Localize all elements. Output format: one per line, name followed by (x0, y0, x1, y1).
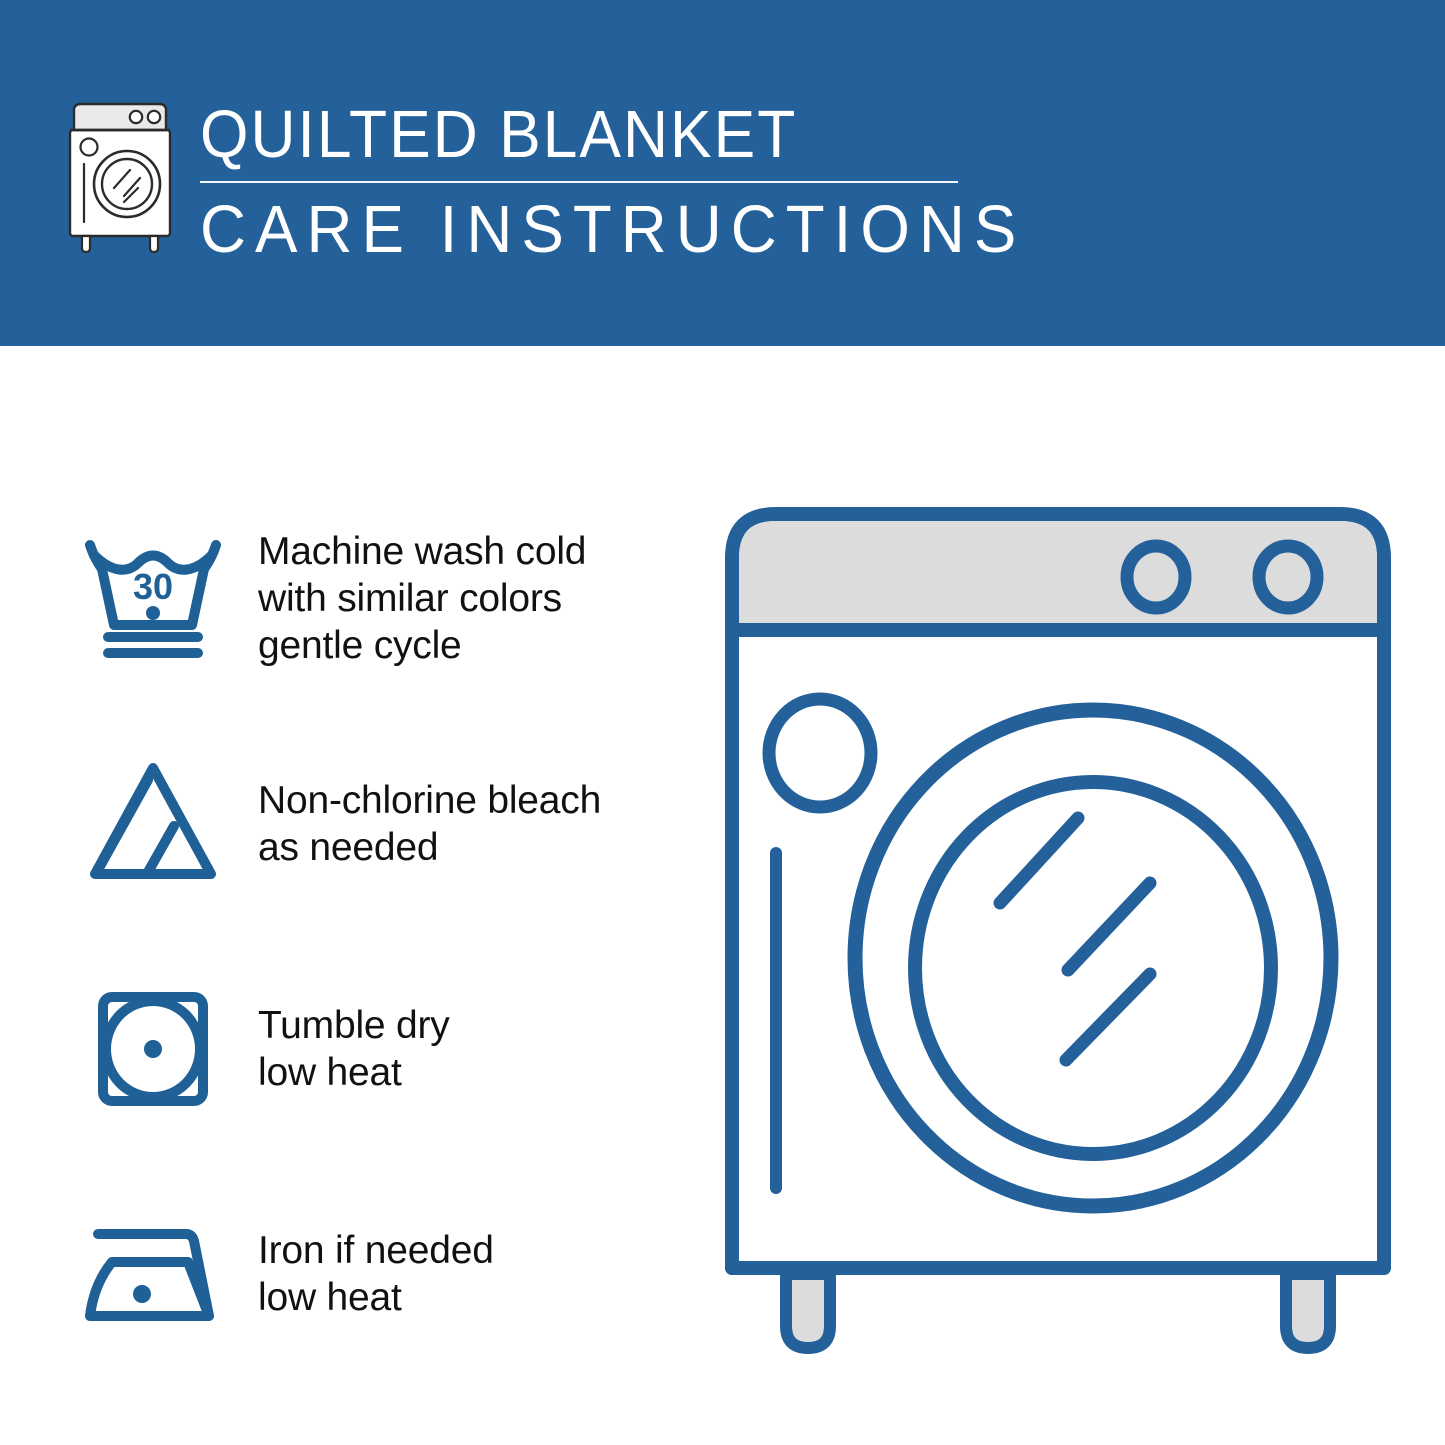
washing-machine-icon (62, 96, 182, 256)
page-title-secondary: CARE INSTRUCTIONS (200, 193, 1025, 267)
title-divider (200, 181, 958, 183)
tumble-dry-low-icon (70, 979, 235, 1119)
machine-leg (786, 1274, 830, 1348)
care-instruction-row: Iron if needed low heat (70, 1161, 690, 1386)
care-instruction-row: Tumble dry low heat (70, 936, 690, 1161)
care-instructions-page: QUILTED BLANKET CARE INSTRUCTIONS (0, 0, 1445, 1445)
care-instruction-text: Tumble dry low heat (258, 1002, 450, 1096)
care-instruction-list: 30 Machine wash cold with similar colors… (70, 486, 690, 1386)
care-instruction-text: Machine wash cold with similar colors ge… (258, 528, 586, 669)
header-content: QUILTED BLANKET CARE INSTRUCTIONS (62, 96, 1069, 267)
care-instruction-text: Non-chlorine bleach as needed (258, 777, 601, 871)
header-title-block: QUILTED BLANKET CARE INSTRUCTIONS (200, 96, 1069, 267)
care-instruction-text: Iron if needed low heat (258, 1227, 494, 1321)
front-load-washing-machine-illustration (718, 478, 1398, 1368)
machine-leg (1286, 1274, 1330, 1348)
header-band: QUILTED BLANKET CARE INSTRUCTIONS (0, 0, 1445, 346)
wash-tub-30-gentle-icon: 30 (70, 529, 235, 669)
non-chlorine-bleach-triangle-icon (70, 754, 235, 894)
care-instruction-row: 30 Machine wash cold with similar colors… (70, 486, 690, 711)
care-instruction-row: Non-chlorine bleach as needed (70, 711, 690, 936)
iron-low-heat-icon (70, 1204, 235, 1344)
wash-temperature-label: 30 (132, 566, 172, 607)
page-title-primary: QUILTED BLANKET (200, 98, 1008, 172)
